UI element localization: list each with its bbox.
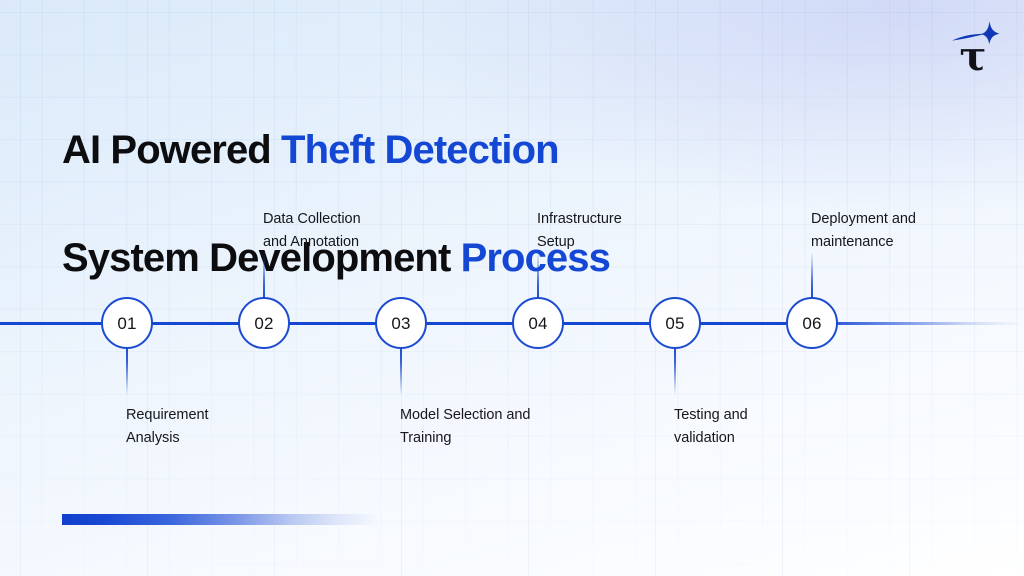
- tau-glyph: τ: [960, 33, 987, 74]
- connector-stem-05: [674, 347, 676, 395]
- gradient-accent-bar: [62, 514, 380, 525]
- timeline-node-06[interactable]: 06: [786, 297, 838, 349]
- connector-stem-02: [263, 252, 265, 299]
- connector-stem-03: [400, 347, 402, 395]
- timeline-node-04[interactable]: 04: [512, 297, 564, 349]
- timeline-label-02: Data Collection and Annotation: [263, 208, 473, 253]
- timeline-label-06: Deployment and maintenance: [811, 208, 1021, 253]
- timeline-node-03[interactable]: 03: [375, 297, 427, 349]
- timeline-node-number: 01: [117, 315, 136, 332]
- timeline-node-number: 04: [528, 315, 547, 332]
- timeline-label-03: Model Selection and Training: [400, 404, 610, 449]
- timeline-label-01: Requirement Analysis: [126, 404, 336, 449]
- title-line-1-plain: AI Powered: [62, 128, 281, 172]
- timeline-label-04: Infrastructure Setup: [537, 208, 747, 253]
- timeline-node-05[interactable]: 05: [649, 297, 701, 349]
- slide-canvas: AI Powered Theft Detection System Develo…: [0, 0, 1024, 576]
- connector-stem-04: [537, 252, 539, 299]
- timeline-label-05: Testing and validation: [674, 404, 884, 449]
- connector-stem-06: [811, 252, 813, 299]
- page-title: AI Powered Theft Detection System Develo…: [62, 69, 702, 339]
- timeline-node-number: 03: [391, 315, 410, 332]
- timeline-node-number: 05: [665, 315, 684, 332]
- tau-sparkle-logo: τ: [944, 18, 1006, 74]
- title-line-1-accent: Theft Detection: [281, 128, 559, 172]
- connector-stem-01: [126, 347, 128, 395]
- timeline-node-number: 06: [802, 315, 821, 332]
- timeline-node-02[interactable]: 02: [238, 297, 290, 349]
- title-line-1: AI Powered Theft Detection: [62, 123, 702, 177]
- timeline-node-number: 02: [254, 315, 273, 332]
- timeline-node-01[interactable]: 01: [101, 297, 153, 349]
